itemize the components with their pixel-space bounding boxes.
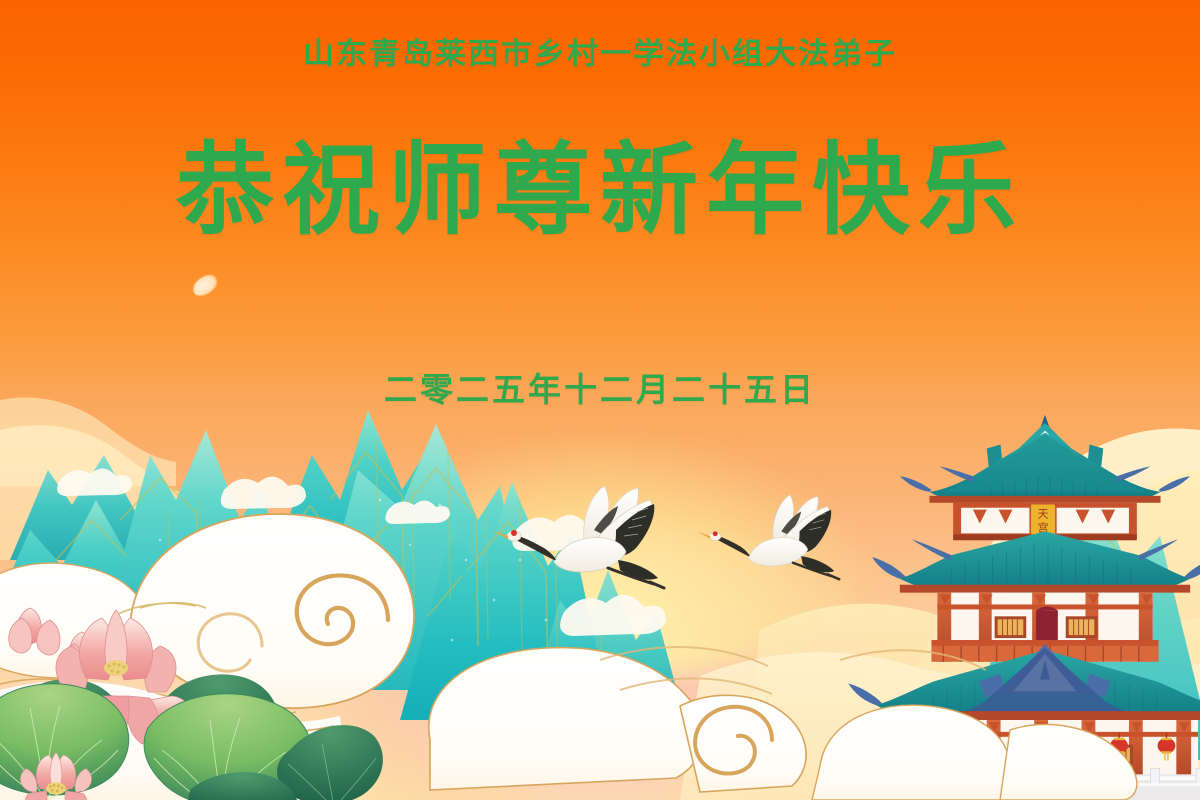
greeting-card: 天 宫	[0, 0, 1200, 800]
greeting-headline: 恭祝师尊新年快乐	[0, 137, 1200, 247]
lotus-group	[0, 600, 370, 800]
date-line: 二零二五年十二月二十五日	[0, 363, 1200, 411]
lotus-bud	[9, 608, 60, 655]
organization-line: 山东青岛莱西市乡村一学法小组大法弟子	[0, 29, 1200, 72]
